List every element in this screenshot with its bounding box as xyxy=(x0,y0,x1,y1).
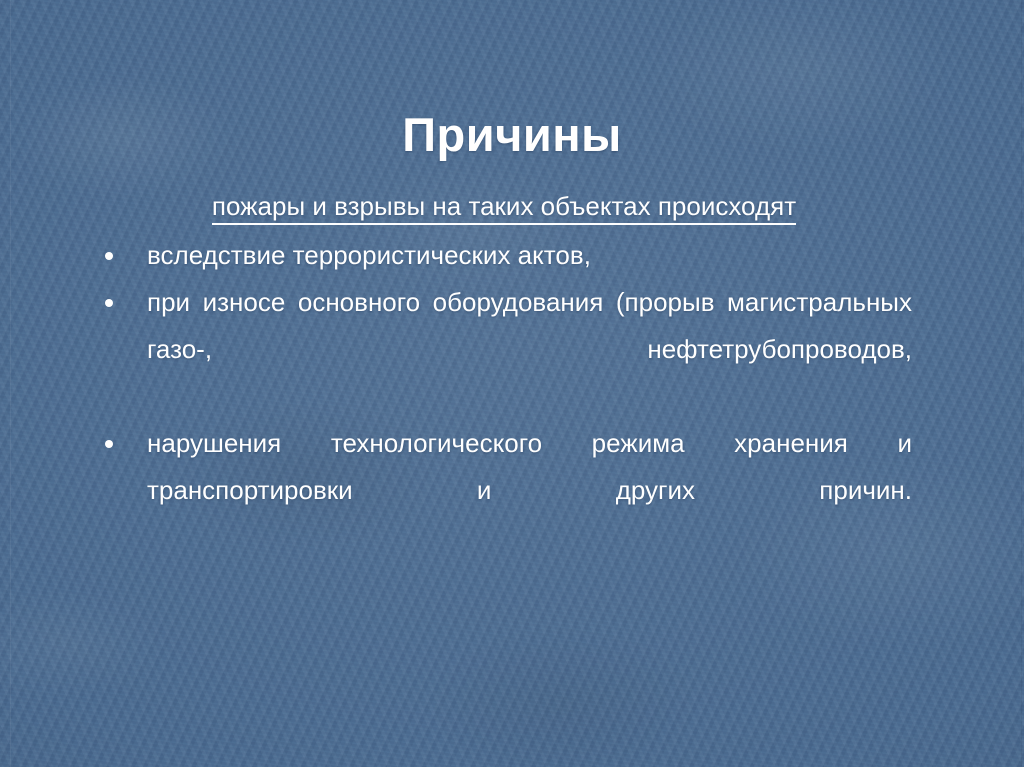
list-item: нарушения технологического режима хранен… xyxy=(96,420,912,561)
slide-content: Причины пожары и взрывы на таких объекта… xyxy=(0,0,1024,767)
bullet-dot-icon xyxy=(105,440,113,448)
list-item: при износе основного оборудования (проры… xyxy=(96,279,912,420)
lead-sentence-underlined-text: пожары и взрывы на таких объектах происх… xyxy=(212,191,796,225)
list-item-text: нарушения технологического режима хранен… xyxy=(147,420,912,561)
bullet-dot-icon xyxy=(105,252,113,260)
list-item: вследствие террористических актов, xyxy=(96,232,912,279)
list-item-text: вследствие террористических актов, xyxy=(147,232,912,279)
bullet-list: вследствие террористических актов, при и… xyxy=(96,232,912,561)
list-item-text: при износе основного оборудования (проры… xyxy=(147,279,912,420)
slide-body: пожары и взрывы на таких объектах происх… xyxy=(96,186,912,561)
slide-canvas: Причины пожары и взрывы на таких объекта… xyxy=(0,0,1024,767)
lead-sentence: пожары и взрывы на таких объектах происх… xyxy=(96,186,912,226)
bullet-dot-icon xyxy=(105,299,113,307)
slide-title: Причины xyxy=(0,110,1024,159)
